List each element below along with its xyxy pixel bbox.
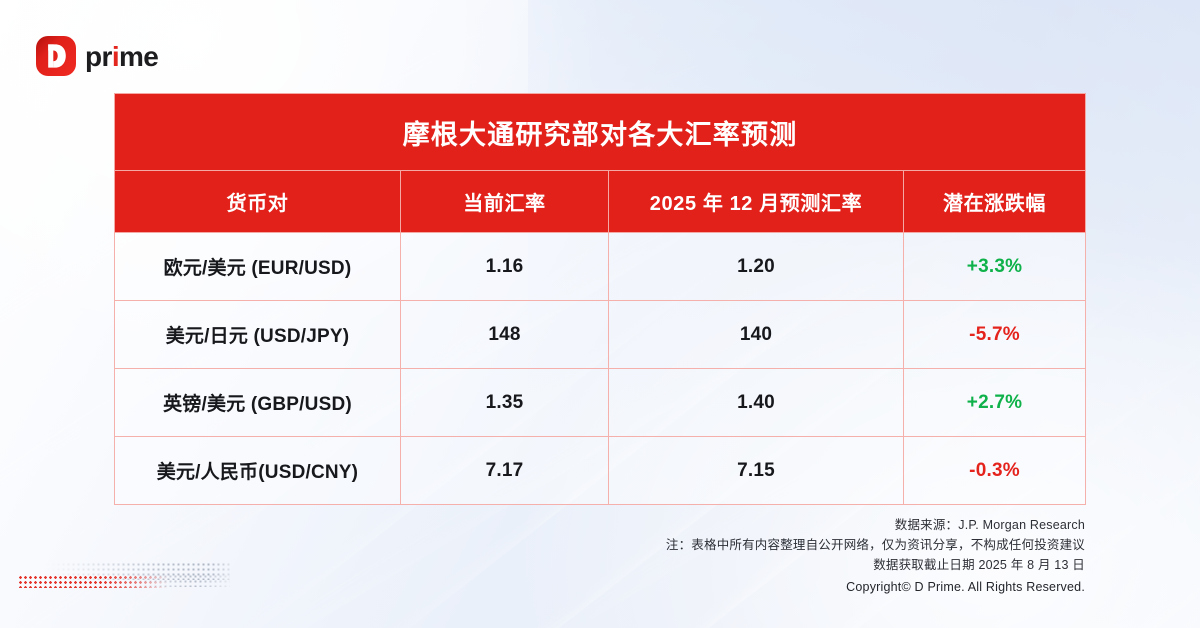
- brand-wordmark: prime: [85, 43, 158, 71]
- cell-forecast: 7.15: [609, 437, 904, 505]
- table-row: 英镑/美元 (GBP/USD) 1.35 1.40 +2.7%: [115, 369, 1086, 437]
- column-header-current[interactable]: 当前汇率: [401, 171, 609, 233]
- note-source: 数据来源：J.P. Morgan Research: [114, 515, 1085, 535]
- cell-change: +2.7%: [904, 369, 1086, 437]
- cell-forecast: 140: [609, 301, 904, 369]
- cell-change: -5.7%: [904, 301, 1086, 369]
- cell-current: 1.35: [401, 369, 609, 437]
- brand-logo[interactable]: prime: [36, 36, 158, 76]
- table-notes: 数据来源：J.P. Morgan Research 注：表格中所有内容整理自公开…: [114, 515, 1085, 575]
- cell-pair: 英镑/美元 (GBP/USD): [115, 369, 401, 437]
- d-prime-logo-icon: [36, 36, 76, 76]
- note-disclaimer: 注：表格中所有内容整理自公开网络，仅为资讯分享，不构成任何投资建议: [114, 535, 1085, 555]
- cell-forecast: 1.20: [609, 233, 904, 301]
- table-title-row: 摩根大通研究部对各大汇率预测: [115, 94, 1086, 171]
- wordmark-highlight-letter: i: [112, 41, 119, 72]
- brand-wordmark-text: prime: [85, 41, 158, 72]
- cell-current: 1.16: [401, 233, 609, 301]
- column-header-forecast[interactable]: 2025 年 12 月预测汇率: [609, 171, 904, 233]
- table-row: 美元/人民币(USD/CNY) 7.17 7.15 -0.3%: [115, 437, 1086, 505]
- cell-change: -0.3%: [904, 437, 1086, 505]
- cell-pair: 美元/日元 (USD/JPY): [115, 301, 401, 369]
- table-row: 美元/日元 (USD/JPY) 148 140 -5.7%: [115, 301, 1086, 369]
- cell-forecast: 1.40: [609, 369, 904, 437]
- table-title: 摩根大通研究部对各大汇率预测: [115, 94, 1086, 171]
- table-header-row: 货币对 当前汇率 2025 年 12 月预测汇率 潜在涨跌幅: [115, 171, 1086, 233]
- column-header-change[interactable]: 潜在涨跌幅: [904, 171, 1086, 233]
- cell-current: 148: [401, 301, 609, 369]
- fx-forecast-table: 摩根大通研究部对各大汇率预测 货币对 当前汇率 2025 年 12 月预测汇率 …: [114, 93, 1086, 505]
- copyright-notice: Copyright© D Prime. All Rights Reserved.: [114, 580, 1085, 594]
- note-as-of-date: 数据获取截止日期 2025 年 8 月 13 日: [114, 555, 1085, 575]
- forecast-table-container: 摩根大通研究部对各大汇率预测 货币对 当前汇率 2025 年 12 月预测汇率 …: [114, 93, 1085, 505]
- column-header-pair[interactable]: 货币对: [115, 171, 401, 233]
- cell-pair: 欧元/美元 (EUR/USD): [115, 233, 401, 301]
- cell-current: 7.17: [401, 437, 609, 505]
- cell-change: +3.3%: [904, 233, 1086, 301]
- cell-pair: 美元/人民币(USD/CNY): [115, 437, 401, 505]
- table-row: 欧元/美元 (EUR/USD) 1.16 1.20 +3.3%: [115, 233, 1086, 301]
